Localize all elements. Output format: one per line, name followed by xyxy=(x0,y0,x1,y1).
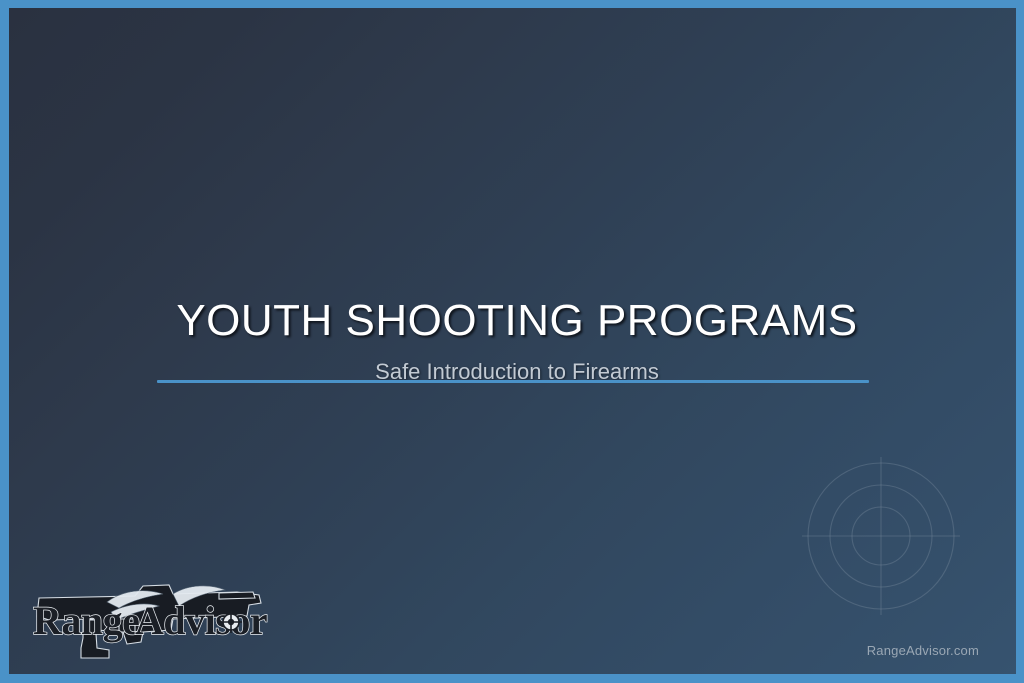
footer-url: RangeAdvisor.com xyxy=(867,643,979,658)
slide-border-frame: YOUTH SHOOTING PROGRAMS Safe Introductio… xyxy=(0,0,1024,683)
brand-wordmark-range: Range xyxy=(33,598,139,643)
brand-wordmark-advisor: Advisor xyxy=(135,598,267,643)
slide-canvas: YOUTH SHOOTING PROGRAMS Safe Introductio… xyxy=(9,8,1016,674)
accent-divider xyxy=(157,380,869,383)
brand-logo: Range Advisor xyxy=(23,572,275,664)
page-title: YOUTH SHOOTING PROGRAMS xyxy=(157,295,877,347)
